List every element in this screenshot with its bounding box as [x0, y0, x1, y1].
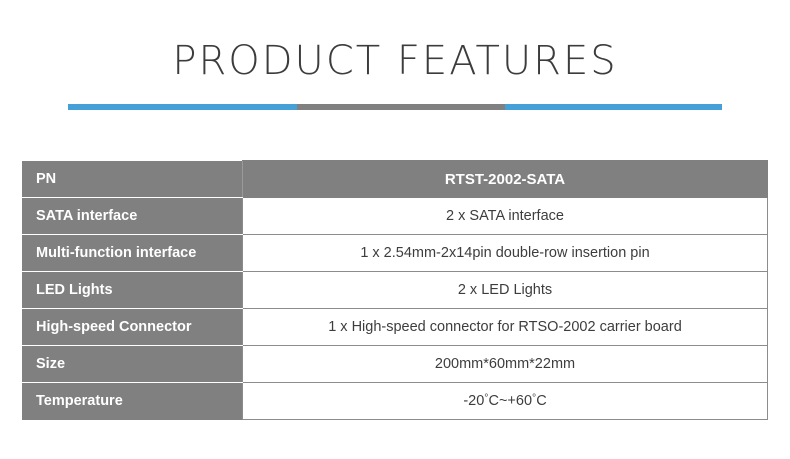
table-row: SATA interface2 x SATA interface: [22, 198, 768, 235]
spec-label-cell: SATA interface: [22, 198, 243, 235]
table-row: Temperature-20°C~+60°C: [22, 383, 768, 420]
divider-segment-middle: [297, 104, 505, 110]
spec-value-cell: 1 x High-speed connector for RTSO-2002 c…: [243, 309, 768, 346]
table-row: LED Lights2 x LED Lights: [22, 272, 768, 309]
spec-label-cell: LED Lights: [22, 272, 243, 309]
spec-label-cell: Size: [22, 346, 243, 383]
spec-table-body: PNRTST-2002-SATASATA interface2 x SATA i…: [22, 161, 768, 420]
spec-value-cell: 2 x SATA interface: [243, 198, 768, 235]
degree-symbol: °: [532, 393, 536, 404]
product-features-table: PNRTST-2002-SATASATA interface2 x SATA i…: [22, 160, 768, 420]
page-title: PRODUCT FEATURES: [0, 38, 790, 84]
table-row: Size200mm*60mm*22mm: [22, 346, 768, 383]
spec-label-cell: Temperature: [22, 383, 243, 420]
spec-value-cell: -20°C~+60°C: [243, 383, 768, 420]
table-row: Multi-function interface1 x 2.54mm-2x14p…: [22, 235, 768, 272]
section-divider: [68, 104, 722, 110]
spec-label-cell: PN: [22, 161, 243, 198]
spec-value-cell: 1 x 2.54mm-2x14pin double-row insertion …: [243, 235, 768, 272]
spec-label-cell: High-speed Connector: [22, 309, 243, 346]
divider-segment-left: [68, 104, 297, 110]
spec-value-cell: 200mm*60mm*22mm: [243, 346, 768, 383]
spec-label-cell: Multi-function interface: [22, 235, 243, 272]
spec-value-cell: RTST-2002-SATA: [243, 161, 768, 198]
table-row: PNRTST-2002-SATA: [22, 161, 768, 198]
divider-segment-right: [505, 104, 722, 110]
degree-symbol: °: [484, 393, 488, 404]
spec-value-cell: 2 x LED Lights: [243, 272, 768, 309]
table-row: High-speed Connector1 x High-speed conne…: [22, 309, 768, 346]
